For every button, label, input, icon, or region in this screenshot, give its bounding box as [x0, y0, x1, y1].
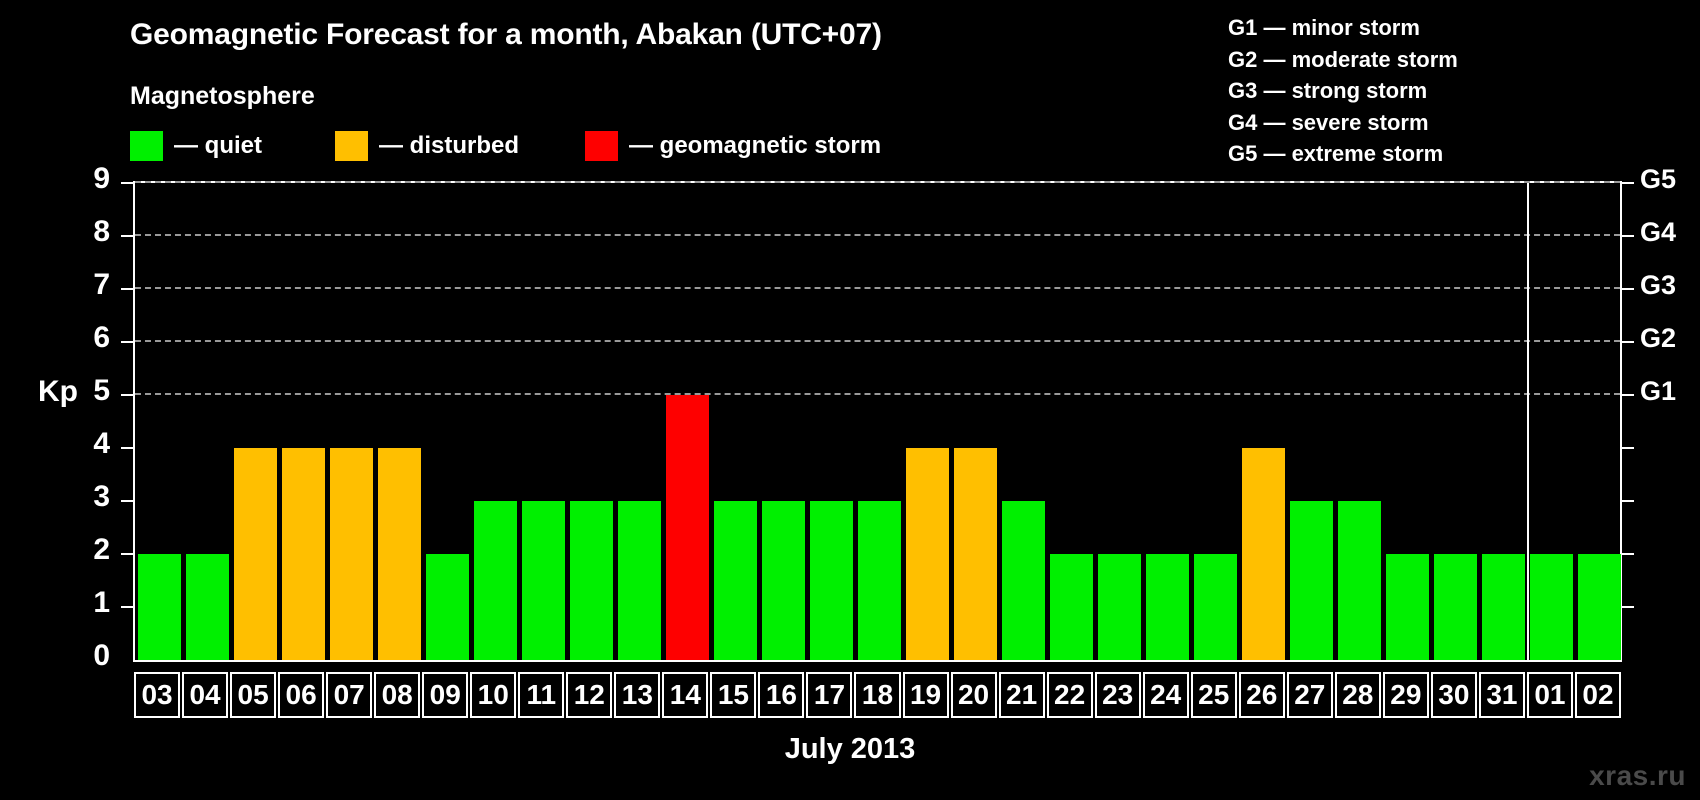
date-label-25[interactable]: 25 [1191, 672, 1237, 718]
date-label-04[interactable]: 04 [182, 672, 228, 718]
bar-31[interactable] [1482, 554, 1525, 660]
bar-19[interactable] [906, 448, 949, 660]
date-label-10[interactable]: 10 [470, 672, 516, 718]
bar-16[interactable] [762, 501, 805, 660]
bar-21[interactable] [1002, 501, 1045, 660]
date-label-02[interactable]: 02 [1575, 672, 1621, 718]
date-label-28[interactable]: 28 [1335, 672, 1381, 718]
y-tick-5: 5 [50, 374, 110, 408]
date-label-23[interactable]: 23 [1095, 672, 1141, 718]
y-tick-mark-right-3 [1622, 500, 1634, 502]
page-title: Geomagnetic Forecast for a month, Abakan… [130, 18, 882, 52]
bar-29[interactable] [1386, 554, 1429, 660]
y-tick-mark-6 [121, 341, 133, 343]
bar-03[interactable] [138, 554, 181, 660]
legend-item-storm: — geomagnetic storm [585, 130, 881, 162]
storm-scale-row-g1: G1 — minor storm [1228, 12, 1458, 44]
y-tick-6: 6 [50, 321, 110, 355]
legend-swatch-storm [585, 131, 618, 161]
bar-09[interactable] [426, 554, 469, 660]
bar-15[interactable] [714, 501, 757, 660]
date-label-07[interactable]: 07 [326, 672, 372, 718]
bar-series [135, 183, 1620, 660]
storm-scale-row-g2: G2 — moderate storm [1228, 44, 1458, 76]
gridline-kp-8 [135, 234, 1620, 236]
date-label-19[interactable]: 19 [903, 672, 949, 718]
y-tick-0: 0 [50, 639, 110, 673]
date-label-31[interactable]: 31 [1479, 672, 1525, 718]
bar-27[interactable] [1290, 501, 1333, 660]
legend-label-storm: — geomagnetic storm [629, 132, 881, 160]
storm-scale-row-g3: G3 — strong storm [1228, 75, 1458, 107]
date-label-11[interactable]: 11 [518, 672, 564, 718]
y-tick-mark-right-2 [1622, 553, 1634, 555]
g-tick-g1: G1 [1640, 376, 1676, 407]
legend-swatch-disturbed [335, 131, 368, 161]
y-tick-mark-1 [121, 606, 133, 608]
bar-12[interactable] [570, 501, 613, 660]
date-label-09[interactable]: 09 [422, 672, 468, 718]
y-tick-mark-right-1 [1622, 606, 1634, 608]
y-tick-mark-right-9 [1622, 182, 1634, 184]
bar-14[interactable] [666, 395, 709, 660]
y-tick-mark-7 [121, 288, 133, 290]
y-tick-8: 8 [50, 215, 110, 249]
y-tick-7: 7 [50, 268, 110, 302]
date-label-30[interactable]: 30 [1431, 672, 1477, 718]
legend-label-quiet: — quiet [174, 132, 262, 160]
date-label-05[interactable]: 05 [230, 672, 276, 718]
y-tick-mark-right-5 [1622, 394, 1634, 396]
y-tick-mark-4 [121, 447, 133, 449]
legend-item-quiet: — quiet [130, 130, 262, 162]
y-tick-2: 2 [50, 533, 110, 567]
date-label-22[interactable]: 22 [1047, 672, 1093, 718]
bar-10[interactable] [474, 501, 517, 660]
y-tick-mark-2 [121, 553, 133, 555]
g-tick-g3: G3 [1640, 270, 1676, 301]
date-label-27[interactable]: 27 [1287, 672, 1333, 718]
gridline-kp-6 [135, 340, 1620, 342]
date-label-21[interactable]: 21 [999, 672, 1045, 718]
bar-30[interactable] [1434, 554, 1477, 660]
date-label-06[interactable]: 06 [278, 672, 324, 718]
chart-canvas: Geomagnetic Forecast for a month, Abakan… [0, 0, 1700, 800]
date-label-13[interactable]: 13 [614, 672, 660, 718]
bar-06[interactable] [282, 448, 325, 660]
y-tick-mark-5 [121, 394, 133, 396]
date-label-18[interactable]: 18 [854, 672, 900, 718]
bar-26[interactable] [1242, 448, 1285, 660]
bar-11[interactable] [522, 501, 565, 660]
date-label-08[interactable]: 08 [374, 672, 420, 718]
date-label-17[interactable]: 17 [806, 672, 852, 718]
g-tick-g4: G4 [1640, 217, 1676, 248]
legend-label-disturbed: — disturbed [379, 132, 519, 160]
chart-subtitle: Magnetosphere [130, 82, 315, 111]
bar-25[interactable] [1194, 554, 1237, 660]
bar-01[interactable] [1530, 554, 1573, 660]
bar-13[interactable] [618, 501, 661, 660]
bar-24[interactable] [1146, 554, 1189, 660]
y-tick-4: 4 [50, 427, 110, 461]
date-label-03[interactable]: 03 [134, 672, 180, 718]
plot-area [133, 181, 1622, 662]
bar-23[interactable] [1098, 554, 1141, 660]
storm-scale-legend: G1 — minor stormG2 — moderate stormG3 — … [1228, 12, 1458, 170]
y-tick-mark-9 [121, 182, 133, 184]
date-label-26[interactable]: 26 [1239, 672, 1285, 718]
bar-28[interactable] [1338, 501, 1381, 660]
g-tick-g5: G5 [1640, 164, 1676, 195]
y-tick-mark-8 [121, 235, 133, 237]
bar-02[interactable] [1578, 554, 1621, 660]
bar-08[interactable] [378, 448, 421, 660]
storm-scale-row-g5: G5 — extreme storm [1228, 138, 1458, 170]
x-axis-label: July 2013 [0, 733, 1700, 766]
y-tick-3: 3 [50, 480, 110, 514]
y-tick-mark-right-8 [1622, 235, 1634, 237]
gridline-kp-7 [135, 287, 1620, 289]
y-tick-mark-3 [121, 500, 133, 502]
bar-18[interactable] [858, 501, 901, 660]
legend-swatch-quiet [130, 131, 163, 161]
bar-04[interactable] [186, 554, 229, 660]
bar-17[interactable] [810, 501, 853, 660]
gridline-kp-9 [135, 181, 1620, 183]
date-label-20[interactable]: 20 [951, 672, 997, 718]
bar-07[interactable] [330, 448, 373, 660]
date-label-15[interactable]: 15 [710, 672, 756, 718]
bar-20[interactable] [954, 448, 997, 660]
date-label-01[interactable]: 01 [1527, 672, 1573, 718]
month-divider-line [1527, 183, 1529, 660]
date-label-12[interactable]: 12 [566, 672, 612, 718]
y-tick-mark-right-6 [1622, 341, 1634, 343]
y-tick-mark-right-7 [1622, 288, 1634, 290]
date-label-16[interactable]: 16 [758, 672, 804, 718]
y-tick-mark-right-4 [1622, 447, 1634, 449]
date-label-24[interactable]: 24 [1143, 672, 1189, 718]
y-tick-1: 1 [50, 586, 110, 620]
gridline-kp-5 [135, 393, 1620, 395]
y-tick-9: 9 [50, 162, 110, 196]
date-label-29[interactable]: 29 [1383, 672, 1429, 718]
watermark: xras.ru [1589, 760, 1686, 792]
bar-05[interactable] [234, 448, 277, 660]
bar-22[interactable] [1050, 554, 1093, 660]
legend-item-disturbed: — disturbed [335, 130, 519, 162]
g-tick-g2: G2 [1640, 323, 1676, 354]
storm-scale-row-g4: G4 — severe storm [1228, 107, 1458, 139]
date-label-14[interactable]: 14 [662, 672, 708, 718]
